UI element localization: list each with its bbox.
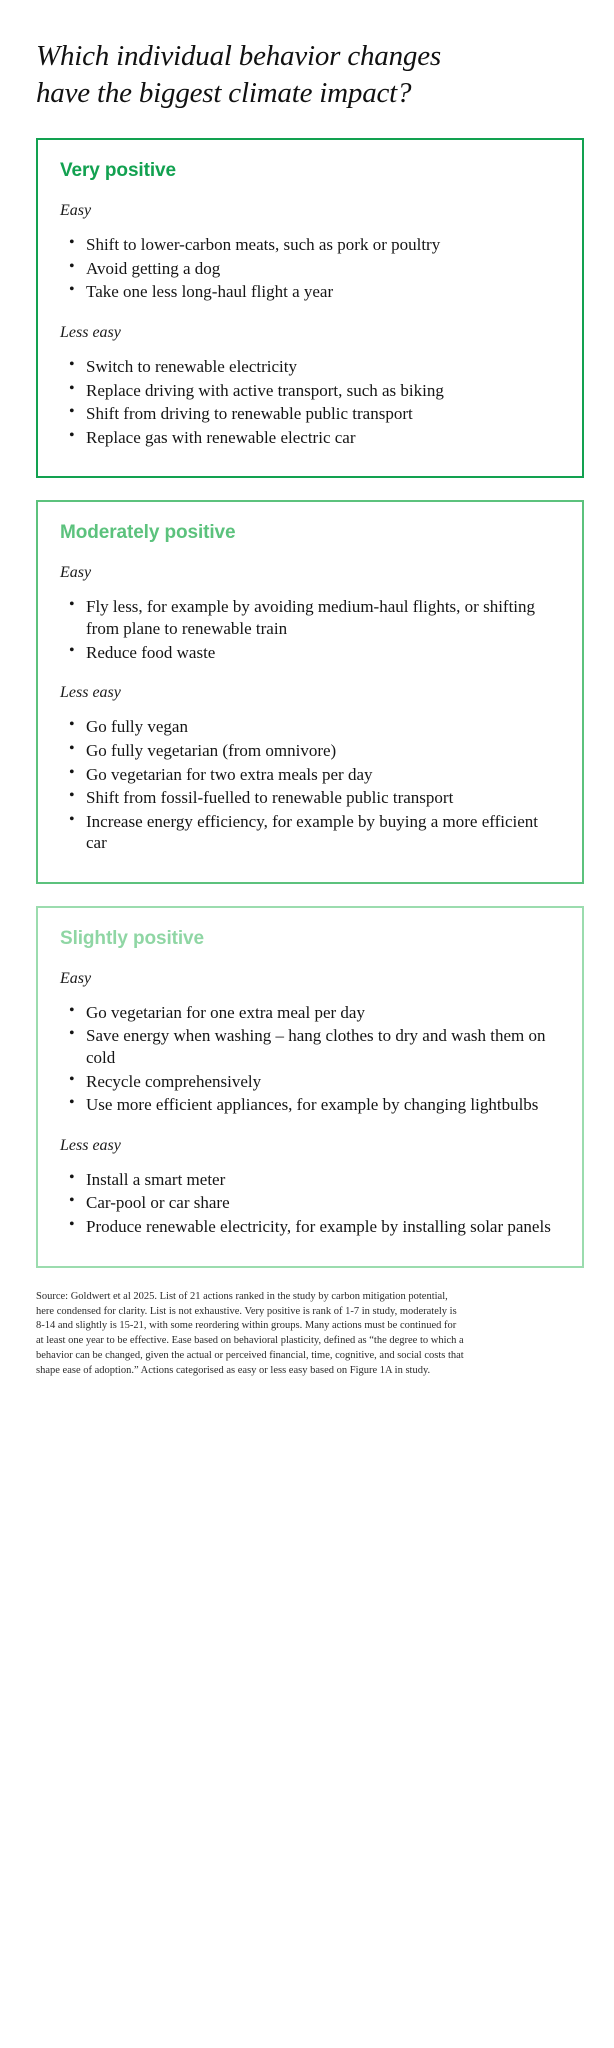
difficulty-label: Less easy (60, 323, 560, 342)
list-item: Go fully vegan (64, 716, 560, 738)
difficulty-label: Easy (60, 969, 560, 988)
list-item: Produce renewable electricity, for examp… (64, 1216, 560, 1238)
list-item: Increase energy efficiency, for example … (64, 811, 560, 854)
action-list: Install a smart meter Car-pool or car sh… (60, 1169, 560, 1238)
category-title: Very positive (60, 160, 560, 183)
list-item: Shift from driving to renewable public t… (64, 403, 560, 425)
action-list: Switch to renewable electricity Replace … (60, 356, 560, 448)
list-item: Avoid getting a dog (64, 258, 560, 280)
list-item: Car-pool or car share (64, 1192, 560, 1214)
category-title: Slightly positive (60, 928, 560, 951)
category-card-very-positive: Very positive Easy Shift to lower-carbon… (36, 138, 584, 478)
action-list: Go vegetarian for one extra meal per day… (60, 1002, 560, 1116)
list-item: Shift to lower-carbon meats, such as por… (64, 234, 560, 256)
action-list: Go fully vegan Go fully vegetarian (from… (60, 716, 560, 853)
source-footnote: Source: Goldwert et al 2025. List of 21 … (36, 1290, 466, 1379)
difficulty-label: Less easy (60, 1136, 560, 1155)
list-item: Use more efficient appliances, for examp… (64, 1094, 560, 1116)
difficulty-label: Easy (60, 201, 560, 220)
list-item: Go vegetarian for one extra meal per day (64, 1002, 560, 1024)
action-list: Shift to lower-carbon meats, such as por… (60, 234, 560, 303)
list-item: Take one less long-haul flight a year (64, 281, 560, 303)
list-item: Reduce food waste (64, 642, 560, 664)
list-item: Save energy when washing – hang clothes … (64, 1025, 560, 1068)
list-item: Replace gas with renewable electric car (64, 427, 560, 449)
category-title: Moderately positive (60, 522, 560, 545)
list-item: Recycle comprehensively (64, 1071, 560, 1093)
difficulty-label: Easy (60, 563, 560, 582)
difficulty-group-less-easy: Less easy Install a smart meter Car-pool… (60, 1136, 560, 1238)
difficulty-group-less-easy: Less easy Switch to renewable electricit… (60, 323, 560, 449)
infographic-page: Which individual behavior changes have t… (0, 0, 614, 2048)
category-card-slightly-positive: Slightly positive Easy Go vegetarian for… (36, 906, 584, 1268)
list-item: Shift from fossil-fuelled to renewable p… (64, 787, 560, 809)
page-title: Which individual behavior changes have t… (36, 38, 466, 112)
list-item: Go fully vegetarian (from omnivore) (64, 740, 560, 762)
difficulty-group-easy: Easy Fly less, for example by avoiding m… (60, 563, 560, 663)
difficulty-group-easy: Easy Shift to lower-carbon meats, such a… (60, 201, 560, 303)
list-item: Install a smart meter (64, 1169, 560, 1191)
list-item: Switch to renewable electricity (64, 356, 560, 378)
list-item: Go vegetarian for two extra meals per da… (64, 764, 560, 786)
list-item: Replace driving with active transport, s… (64, 380, 560, 402)
difficulty-label: Less easy (60, 683, 560, 702)
list-item: Fly less, for example by avoiding medium… (64, 596, 560, 639)
action-list: Fly less, for example by avoiding medium… (60, 596, 560, 663)
category-card-moderately-positive: Moderately positive Easy Fly less, for e… (36, 500, 584, 883)
category-card-list: Very positive Easy Shift to lower-carbon… (36, 138, 584, 1267)
difficulty-group-easy: Easy Go vegetarian for one extra meal pe… (60, 969, 560, 1116)
difficulty-group-less-easy: Less easy Go fully vegan Go fully vegeta… (60, 683, 560, 854)
